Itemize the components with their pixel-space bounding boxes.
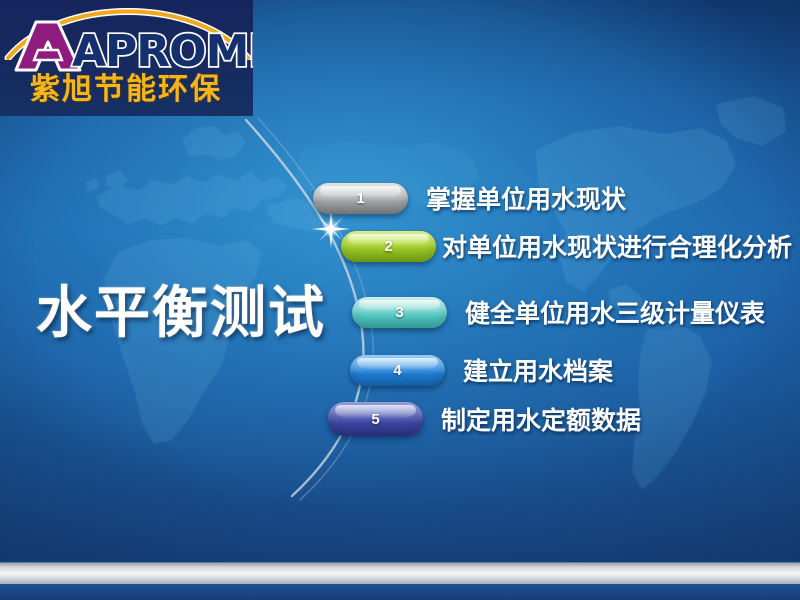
step-pill-5[interactable]: 5	[328, 402, 423, 436]
bottom-footer-bar	[0, 584, 800, 600]
bottom-shadow-strip	[0, 556, 800, 563]
step-item-2[interactable]: 2 对单位用水现状进行合理化分析	[341, 228, 792, 264]
step-item-3[interactable]: 3 健全单位用水三级计量仪表	[352, 294, 765, 330]
step-label-3: 健全单位用水三级计量仪表	[465, 294, 765, 330]
step-label-4: 建立用水档案	[463, 352, 613, 388]
step-item-4[interactable]: 4 建立用水档案	[350, 352, 613, 388]
steps-list: 1 掌握单位用水现状 2 对单位用水现状进行合理化分析 3 健全单位用水三级计量…	[0, 0, 800, 600]
presentation-slide: APROMEN 紫旭节能环保 水平衡测试 1 掌握单位用水现状 2 对单位用水现…	[0, 0, 800, 600]
step-label-1: 掌握单位用水现状	[426, 180, 626, 216]
step-pill-2[interactable]: 2	[341, 231, 436, 262]
step-label-5: 制定用水定额数据	[441, 401, 641, 437]
step-pill-1[interactable]: 1	[313, 183, 408, 214]
step-pill-4[interactable]: 4	[350, 355, 445, 386]
step-pill-3[interactable]: 3	[352, 297, 447, 328]
step-item-1[interactable]: 1 掌握单位用水现状	[313, 180, 626, 216]
step-number-5: 5	[371, 411, 379, 428]
step-number-4: 4	[393, 362, 401, 379]
step-number-3: 3	[395, 304, 403, 321]
step-number-2: 2	[384, 238, 392, 255]
silver-divider-bar	[0, 563, 800, 584]
step-item-5[interactable]: 5 制定用水定额数据	[328, 401, 641, 437]
step-label-2: 对单位用水现状进行合理化分析	[442, 228, 792, 264]
step-number-1: 1	[356, 190, 364, 207]
